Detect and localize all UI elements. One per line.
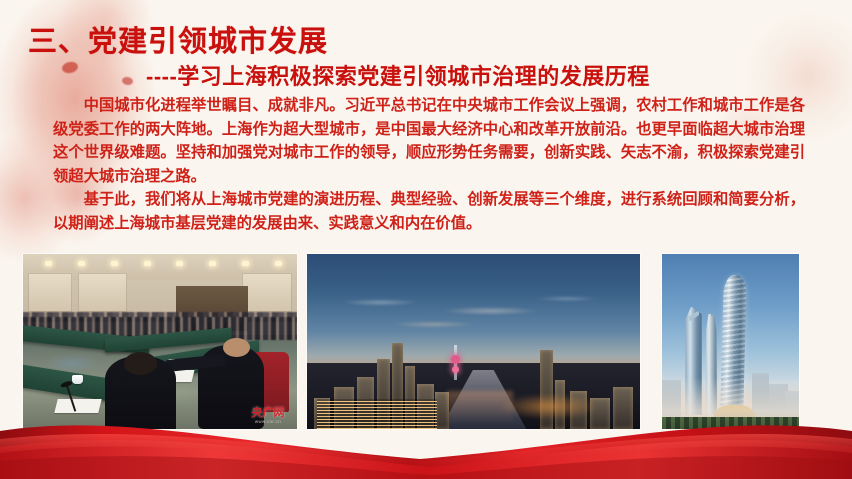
ceiling-lights-icon — [23, 261, 297, 270]
page-subtitle: ----学习上海积极探索党建引领城市治理的发展历程 — [146, 59, 650, 91]
meeting-photo: 央广网 www.cnr.cn — [23, 254, 297, 429]
page-title: 三、党建引领城市发展 — [28, 18, 328, 60]
body-paragraph-2: 基于此，我们将从上海城市党建的演进历程、典型经验、创新发展等三个维度，进行系统回… — [53, 188, 805, 235]
foreground-head — [124, 352, 157, 375]
skyline-photo-content — [307, 254, 640, 429]
red-ribbon-decoration — [0, 409, 852, 479]
skyline-photo — [307, 254, 640, 429]
towers-photo — [662, 254, 799, 429]
slide-canvas: 三、党建引领城市发展 ----学习上海积极探索党建引领城市治理的发展历程 中国城… — [0, 0, 852, 479]
wall-panel — [28, 273, 72, 312]
body-text: 中国城市化进程举世瞩目、成就非凡。习近平总书记在中央城市工作会议上强调，农村工作… — [53, 94, 805, 235]
meeting-photo-content: 央广网 www.cnr.cn — [23, 254, 297, 429]
body-paragraph-1: 中国城市化进程举世瞩目、成就非凡。习近平总书记在中央城市工作会议上强调，农村工作… — [53, 94, 805, 188]
clouds — [307, 289, 640, 350]
oriental-pearl-tower — [454, 345, 457, 380]
watercolor-speck-icon — [61, 60, 79, 74]
tea-cup — [72, 375, 83, 384]
wall-panel — [242, 273, 291, 312]
watercolor-speck-two-icon — [121, 76, 133, 86]
wall-panel — [78, 273, 127, 312]
towers-photo-content — [662, 254, 799, 429]
